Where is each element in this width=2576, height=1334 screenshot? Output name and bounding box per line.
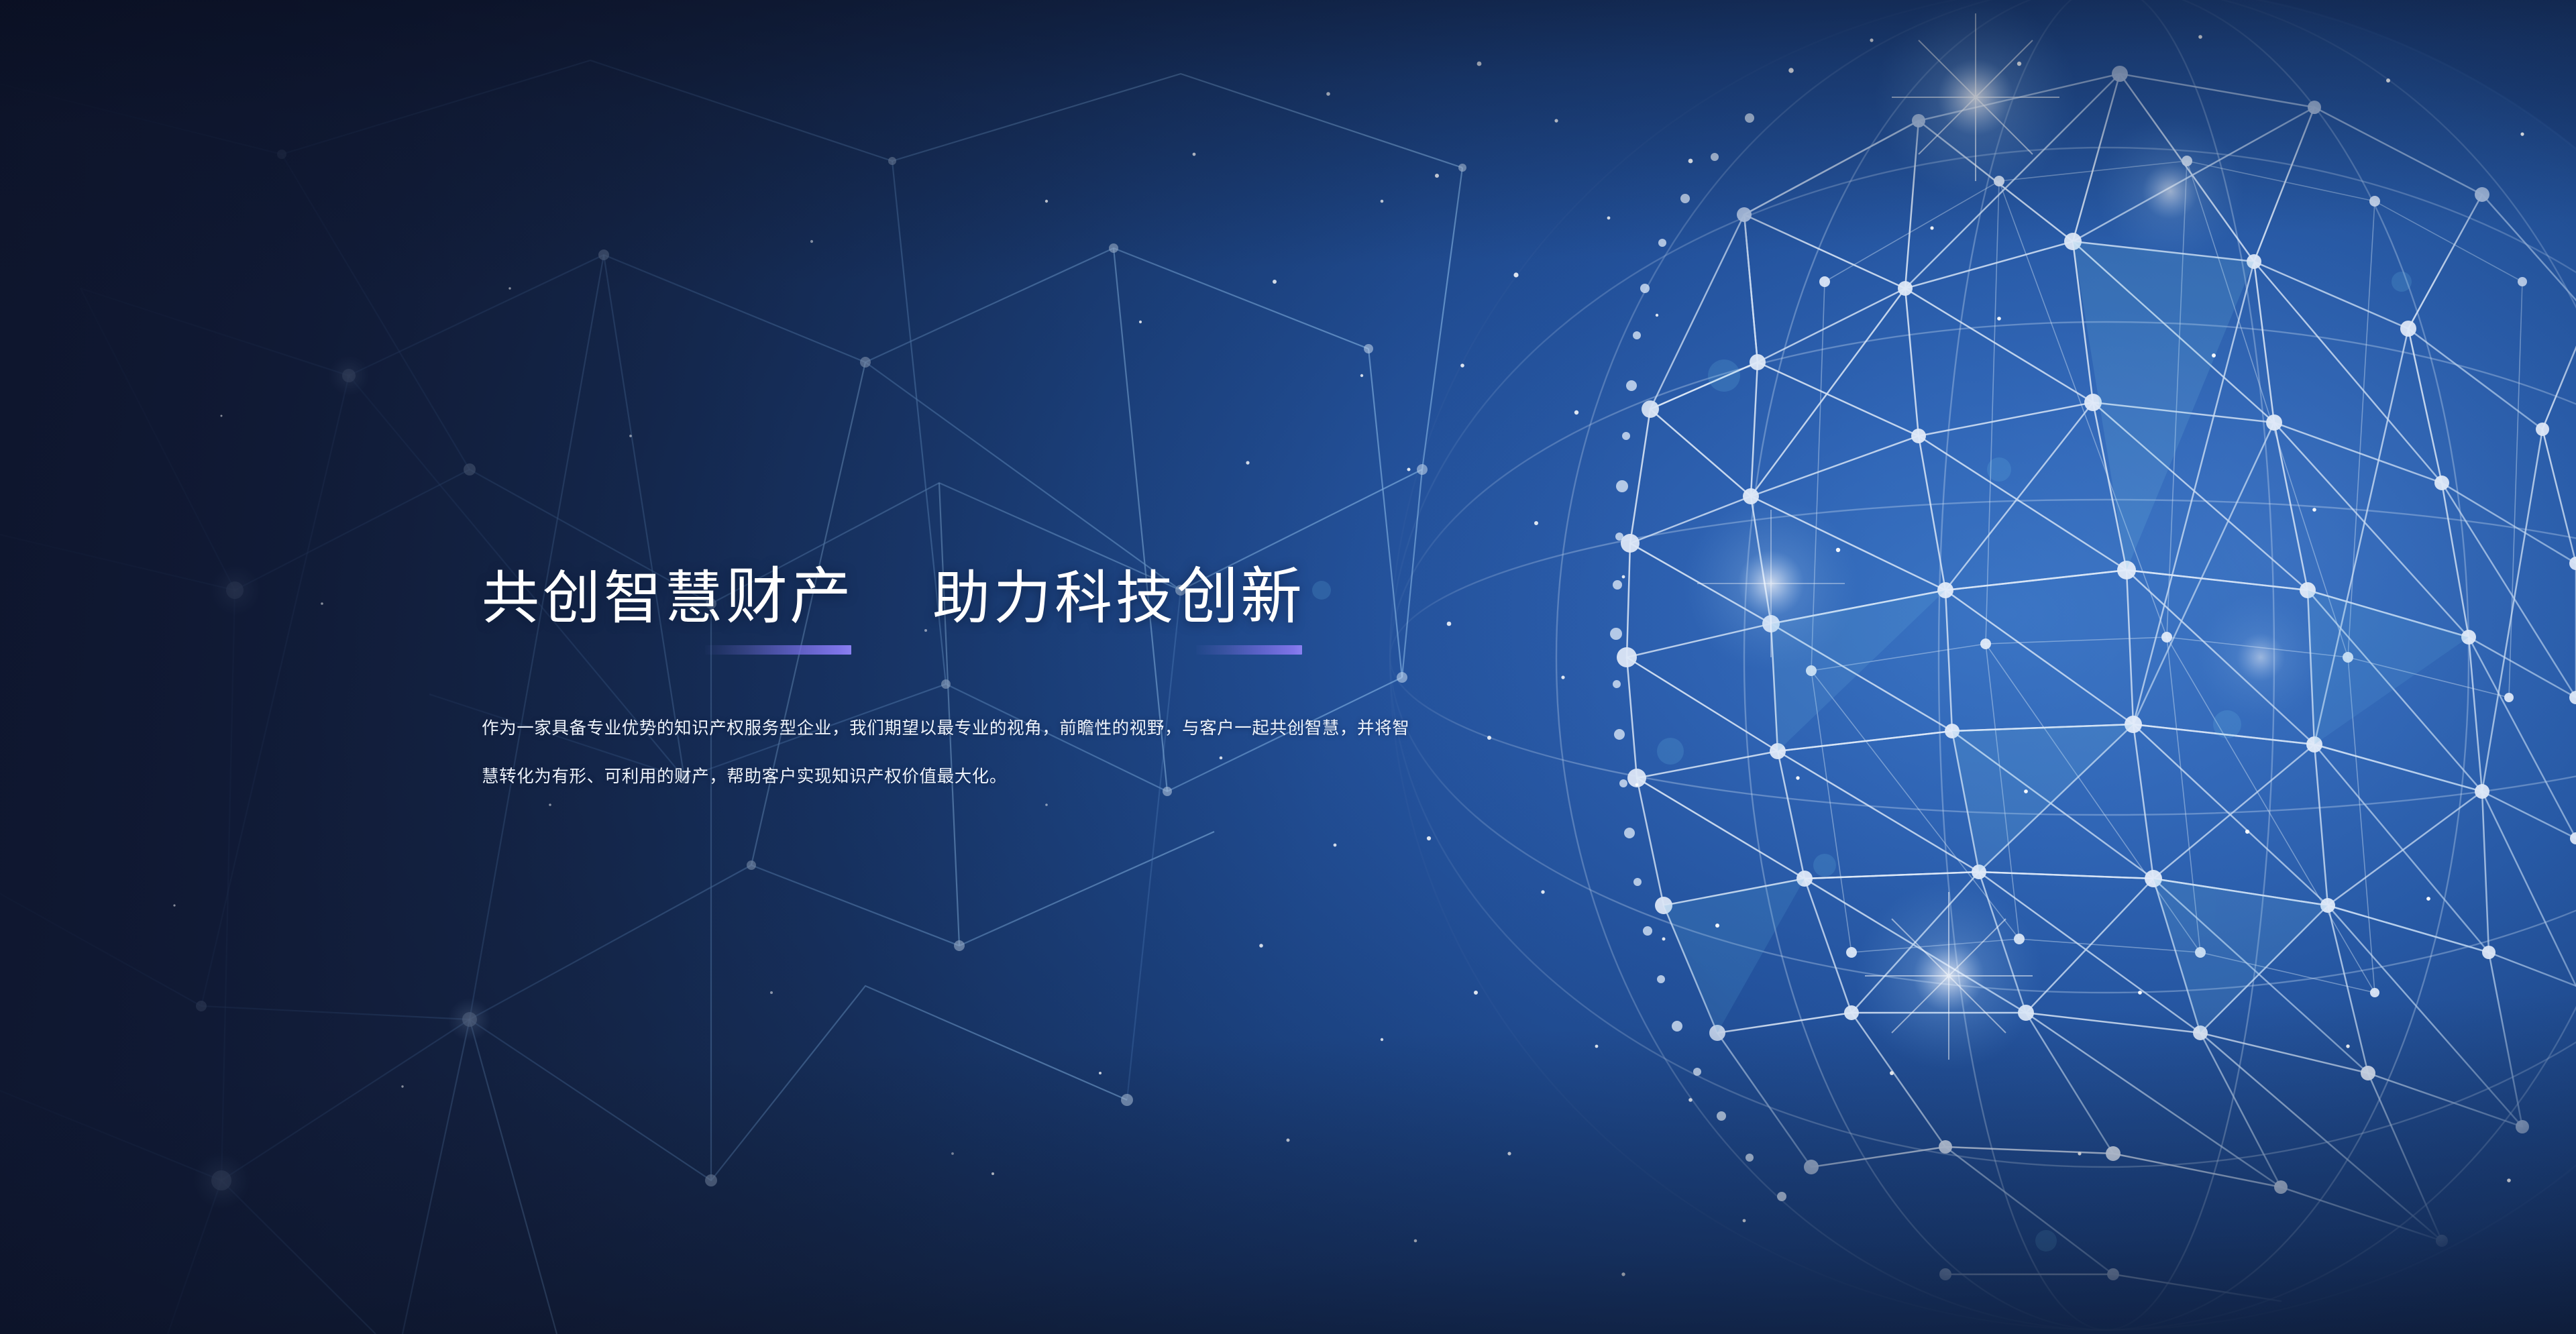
hero-banner: 共创智慧财产 助力科技创新 作为一家具备专业优势的知识产权服务型企业，我们期望以…	[0, 0, 2576, 1334]
hero-text-block: 共创智慧财产 助力科技创新 作为一家具备专业优势的知识产权服务型企业，我们期望以…	[482, 554, 1501, 818]
headline-segment-2: 助力科技创新	[932, 566, 1304, 628]
hero-subtext: 作为一家具备专业优势的知识产权服务型企业，我们期望以最专业的视角，前瞻性的视野，…	[482, 704, 1424, 801]
headline-accent-bar-2	[1196, 645, 1302, 655]
hero-headline: 共创智慧财产 助力科技创新	[482, 554, 1501, 628]
headline-segment-2-plain: 助力科技	[932, 566, 1177, 630]
headline-segment-2-accent: 创新	[1177, 563, 1304, 631]
headline-segment-1-accent: 财产	[726, 563, 853, 631]
headline-accent-bar-1	[705, 645, 851, 655]
headline-segment-1-plain: 共创智慧	[482, 566, 726, 630]
headline-segment-1: 共创智慧财产	[482, 566, 853, 628]
